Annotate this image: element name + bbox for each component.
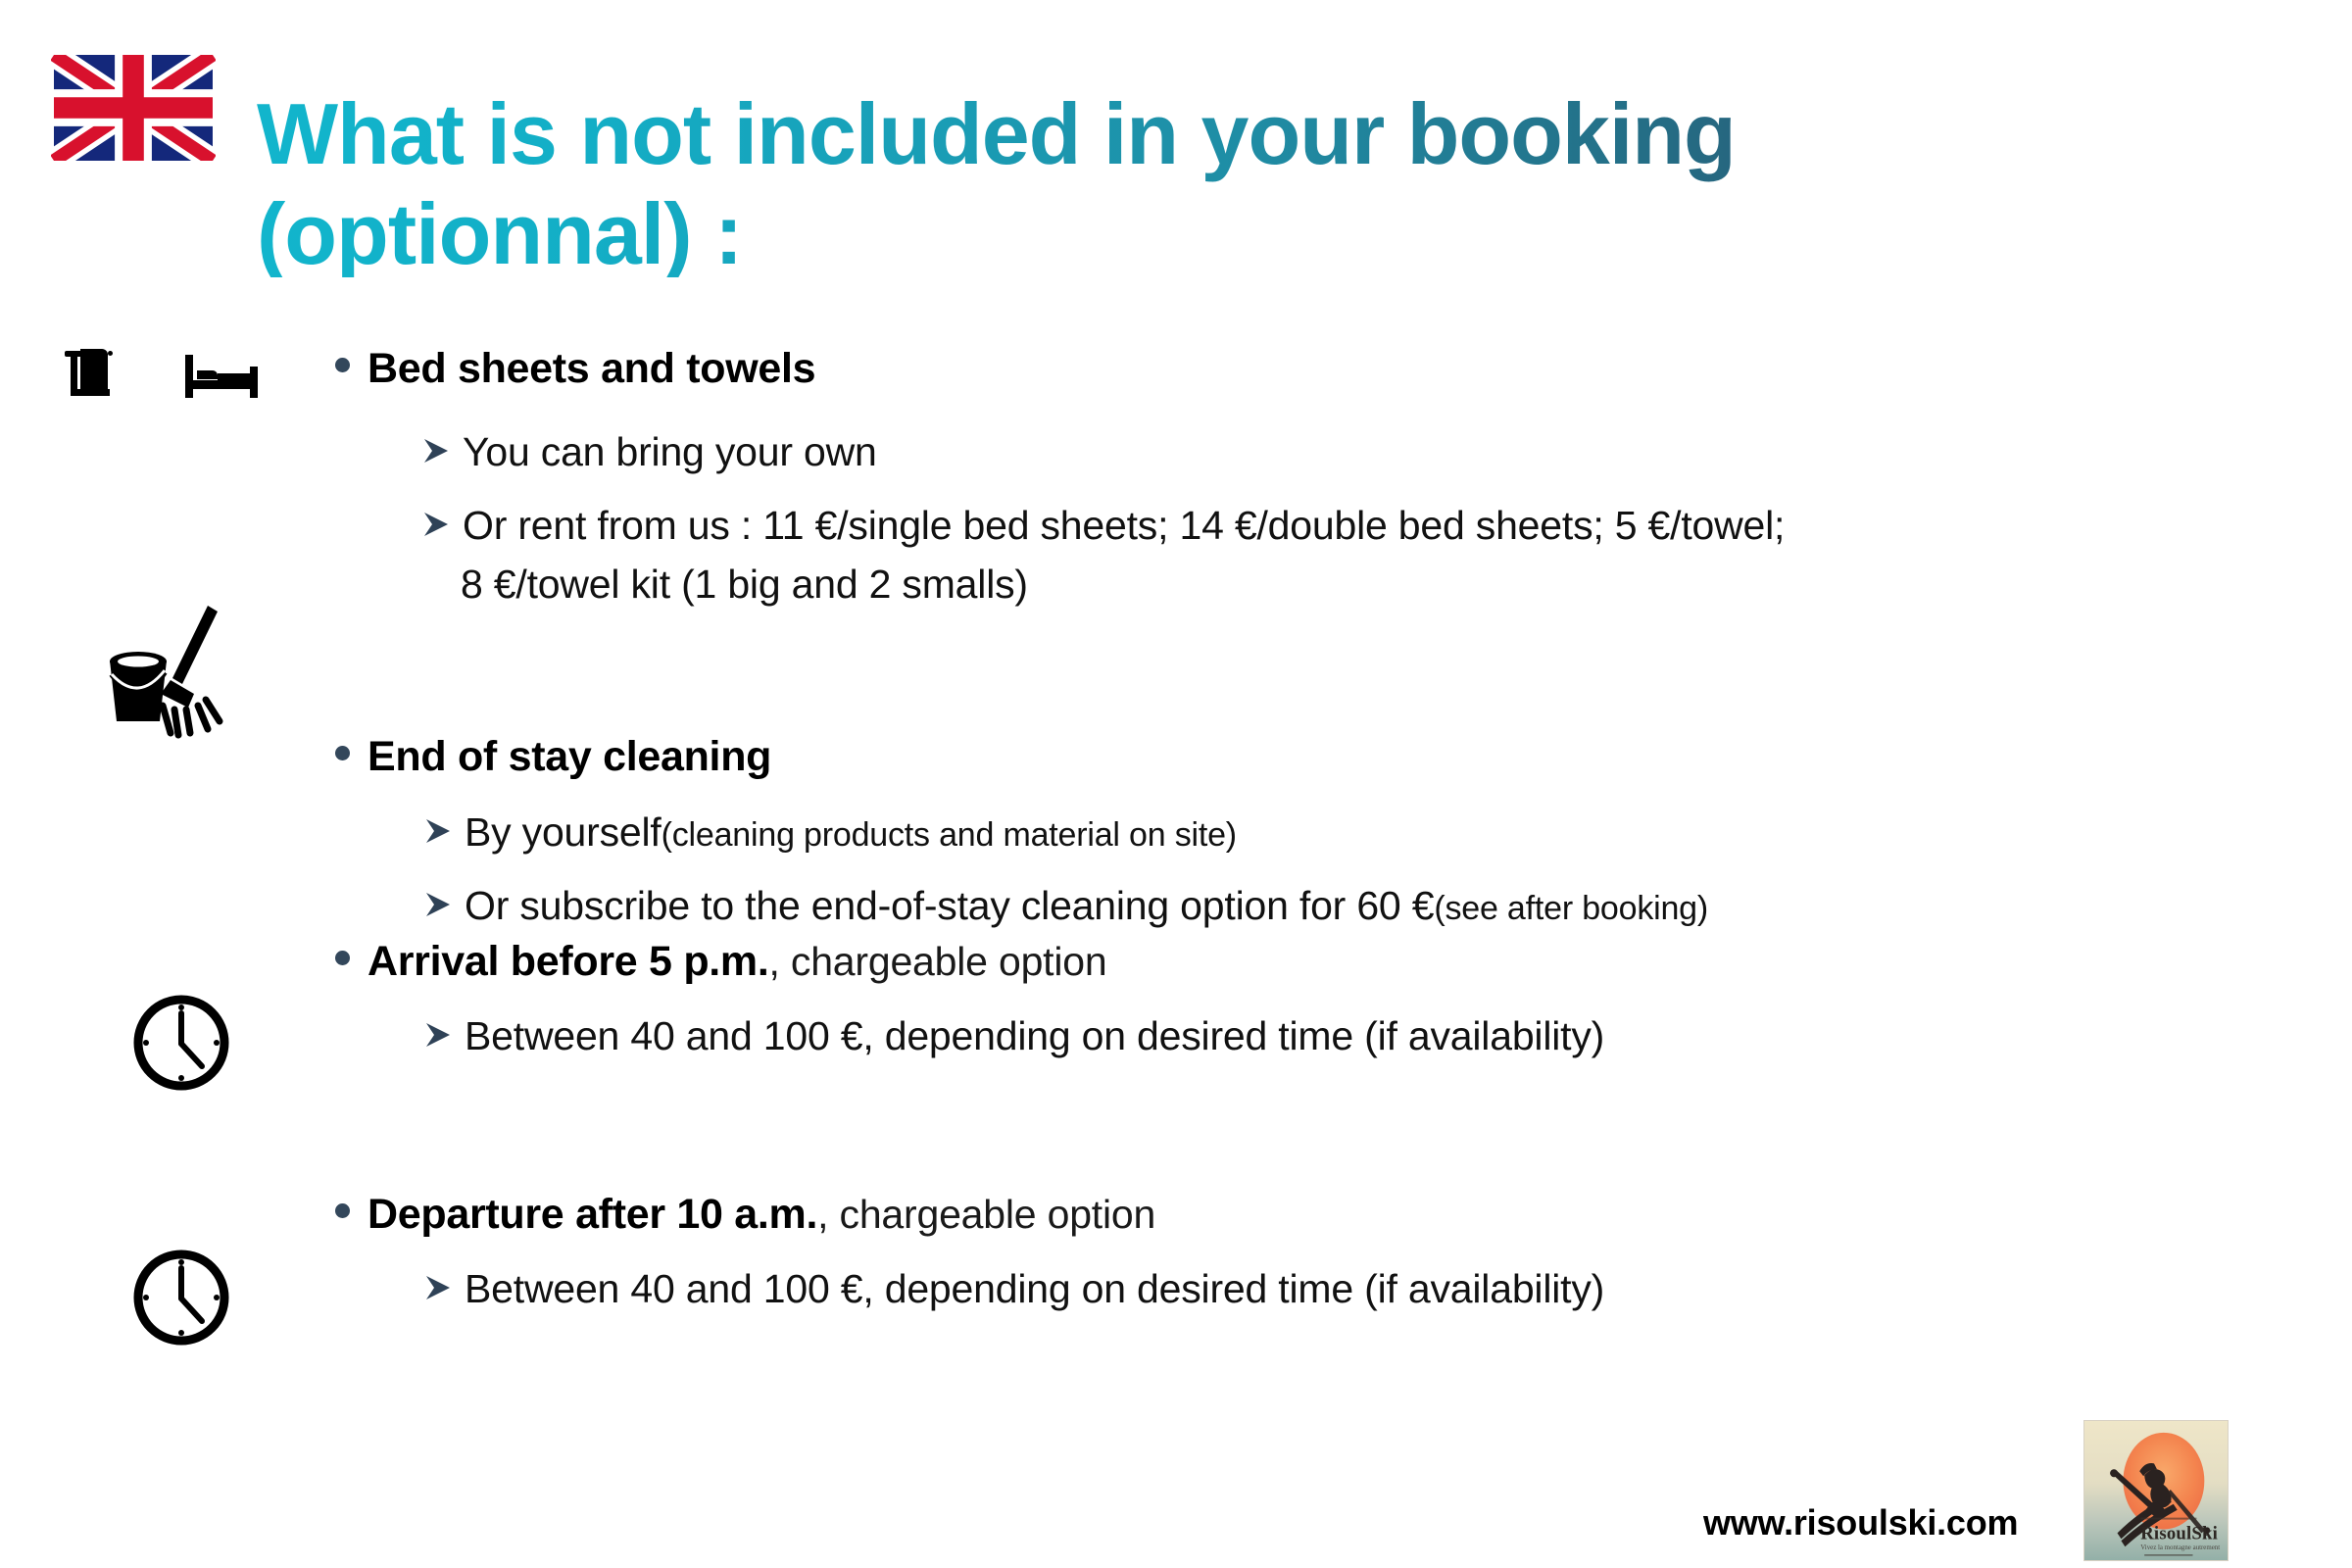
arrow-right-icon bbox=[419, 508, 453, 541]
sub-item-text: You can bring your own bbox=[463, 429, 877, 475]
sub-item-wrapped-line: 8 €/towel kit (1 big and 2 smalls) bbox=[461, 562, 1028, 608]
svg-text:Vivez la montagne autrement: Vivez la montagne autrement bbox=[2140, 1544, 2220, 1551]
sub-item-row: You can bring your own bbox=[419, 429, 877, 475]
section-heading: Arrival before 5 p.m. bbox=[367, 938, 769, 986]
sub-item-text: Or rent from us : 11 €/single bed sheets… bbox=[463, 503, 1785, 549]
sub-item-row: Between 40 and 100 €, depending on desir… bbox=[421, 1013, 1604, 1059]
section-heading-row: Arrival before 5 p.m. , chargeable optio… bbox=[335, 938, 1106, 986]
sub-item-row: Between 40 and 100 €, depending on desir… bbox=[421, 1266, 1604, 1312]
section-heading-suffix: , chargeable option bbox=[817, 1192, 1155, 1238]
page-title-line-1: What is not included in your booking bbox=[257, 91, 2334, 177]
union-jack-flag-icon bbox=[51, 55, 216, 161]
section-heading-row: End of stay cleaning bbox=[335, 733, 771, 781]
sub-item-text: Between 40 and 100 €, depending on desir… bbox=[465, 1266, 1604, 1312]
sub-item-text: By yourself bbox=[465, 809, 661, 856]
sub-item-row: Or rent from us : 11 €/single bed sheets… bbox=[419, 503, 1785, 549]
bullet-dot-icon bbox=[335, 951, 350, 965]
website-url[interactable]: www.risoulski.com bbox=[1703, 1502, 2018, 1543]
bullet-dot-icon bbox=[335, 746, 350, 760]
sub-item-note: (see after booking) bbox=[1434, 890, 1708, 928]
title-row: What is not included in your booking (op… bbox=[0, 27, 2352, 272]
page-title: What is not included in your booking (op… bbox=[257, 91, 2334, 277]
arrow-right-icon bbox=[421, 814, 455, 848]
towel-icon bbox=[59, 341, 120, 402]
clock-icon bbox=[130, 1247, 232, 1348]
sub-item-row: By yourself (cleaning products and mater… bbox=[421, 809, 1237, 856]
sub-item-note: (cleaning products and material on site) bbox=[661, 816, 1237, 855]
risoulski-logo: RisoulSki Vivez la montagne autrement bbox=[2083, 1420, 2229, 1561]
arrow-right-icon bbox=[421, 888, 455, 921]
section-heading-suffix: , chargeable option bbox=[769, 939, 1107, 985]
arrow-right-icon bbox=[421, 1271, 455, 1304]
clock-icon bbox=[130, 992, 232, 1094]
page-title-line-2: (optionnal) : bbox=[257, 191, 2334, 277]
section-heading: End of stay cleaning bbox=[367, 733, 771, 781]
section-heading-row: Departure after 10 a.m. , chargeable opt… bbox=[335, 1191, 1155, 1239]
sub-item-row: Or subscribe to the end-of-stay cleaning… bbox=[421, 883, 1708, 929]
sub-item-text: Between 40 and 100 €, depending on desir… bbox=[465, 1013, 1604, 1059]
bullet-dot-icon bbox=[335, 1203, 350, 1218]
bed-icon bbox=[181, 353, 262, 400]
section-heading-row: Bed sheets and towels bbox=[335, 345, 815, 393]
arrow-right-icon bbox=[421, 1018, 455, 1052]
arrow-right-icon bbox=[419, 434, 453, 467]
sub-item-text: Or subscribe to the end-of-stay cleaning… bbox=[465, 883, 1434, 929]
section-heading: Departure after 10 a.m. bbox=[367, 1191, 817, 1239]
section-heading: Bed sheets and towels bbox=[367, 345, 815, 393]
bullet-dot-icon bbox=[335, 358, 350, 372]
svg-text:RisoulSki: RisoulSki bbox=[2140, 1523, 2218, 1543]
bucket-mop-icon bbox=[98, 600, 227, 739]
